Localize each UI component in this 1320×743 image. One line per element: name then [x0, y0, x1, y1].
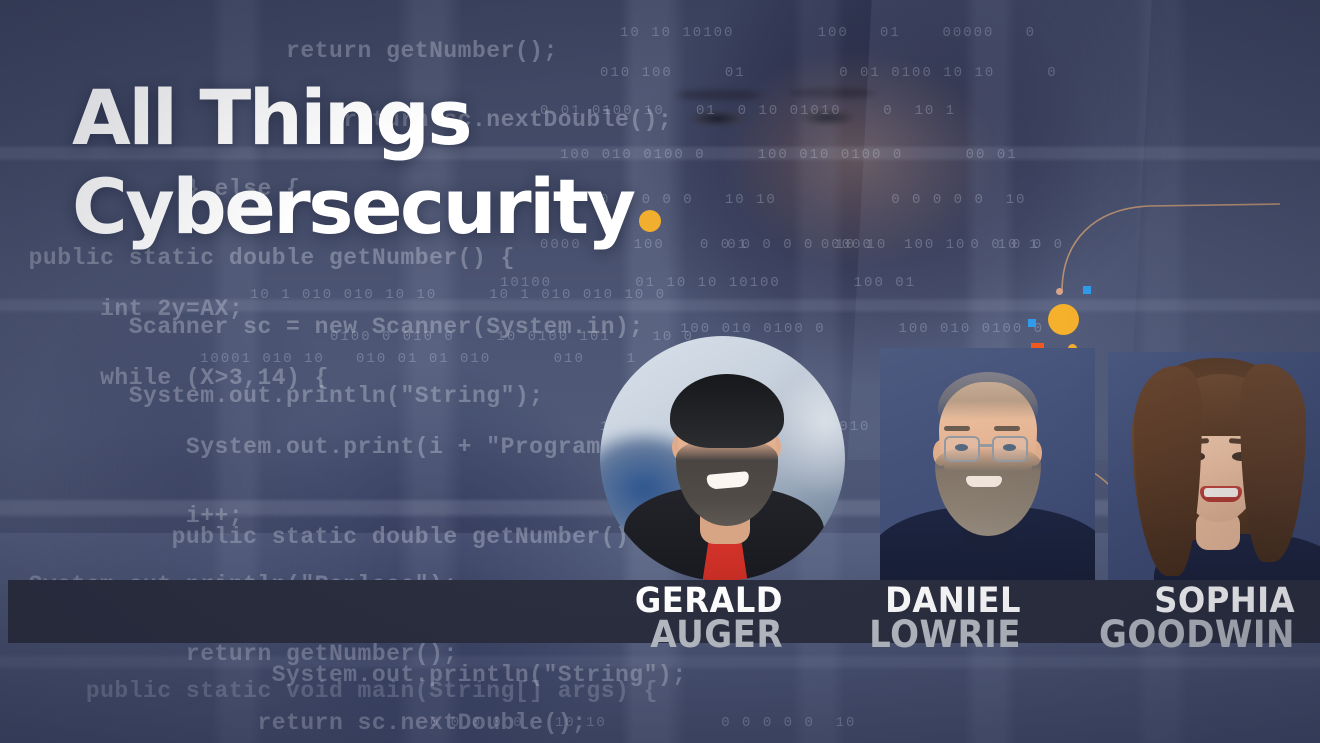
sophia-teeth [1204, 488, 1238, 497]
speaker-last-name: GOODWIN [1031, 618, 1295, 652]
daniel-mouth [966, 476, 1002, 487]
presentation-slide: 10 10 10100 100 01 00000 0 010 100 01 0 … [0, 0, 1320, 743]
daniel-eyeglass-lens-left [944, 436, 980, 462]
speaker-name-gerald-auger: GERALD AUGER [528, 580, 783, 643]
daniel-brow-left [944, 426, 970, 431]
gerald-circular-crop [600, 336, 845, 581]
node-curve-upper [1062, 204, 1280, 292]
node-blue-square-left-icon [1028, 319, 1036, 327]
code-line: public static void main(String[] args) { [0, 680, 658, 703]
slide-title: All Things Cybersecurity [72, 74, 661, 252]
code-line: int 2y=AX; [0, 298, 644, 321]
code-line: return getNumber(); [0, 40, 672, 63]
code-line: public static double getNumber() { [0, 526, 687, 549]
speaker-name-sophia-goodwin: SOPHIA GOODWIN [1008, 580, 1295, 643]
speaker-name-daniel-lowrie: DANIEL LOWRIE [768, 580, 1021, 643]
speaker-last-name: LOWRIE [788, 618, 1021, 652]
slide-title-line-2-wrap: Cybersecurity [72, 163, 661, 252]
daniel-eyeglass-lens-right [992, 436, 1028, 462]
speaker-photo-daniel-lowrie [880, 348, 1095, 591]
node-small-dot-icon [1056, 288, 1063, 295]
code-line: while (X>3,14) { [0, 367, 644, 390]
binary-overlay-row-11: 100 010 0100 0 100 010 0100 0 [680, 322, 1044, 336]
daniel-brow-right [994, 426, 1020, 431]
accent-dot-icon [639, 210, 661, 232]
node-blue-square-upper-icon [1083, 286, 1091, 294]
daniel-eyeglass-bridge [979, 444, 994, 447]
binary-overlay-row-1: 10 10 10100 100 01 00000 0 [620, 26, 1036, 40]
speaker-photo-gerald-auger [600, 336, 845, 591]
slide-title-line-2: Cybersecurity [72, 162, 634, 251]
speaker-photo-sophia-goodwin [1108, 352, 1320, 591]
slide-title-line-1: All Things [72, 73, 470, 162]
code-line: System.out.print(i + "Program"); [0, 436, 644, 459]
speaker-names-group: GERALD AUGER DANIEL LOWRIE SOPHIA GOODWI… [8, 580, 1320, 643]
speaker-last-name: AUGER [548, 618, 783, 652]
node-gold-circle-icon [1048, 304, 1079, 335]
